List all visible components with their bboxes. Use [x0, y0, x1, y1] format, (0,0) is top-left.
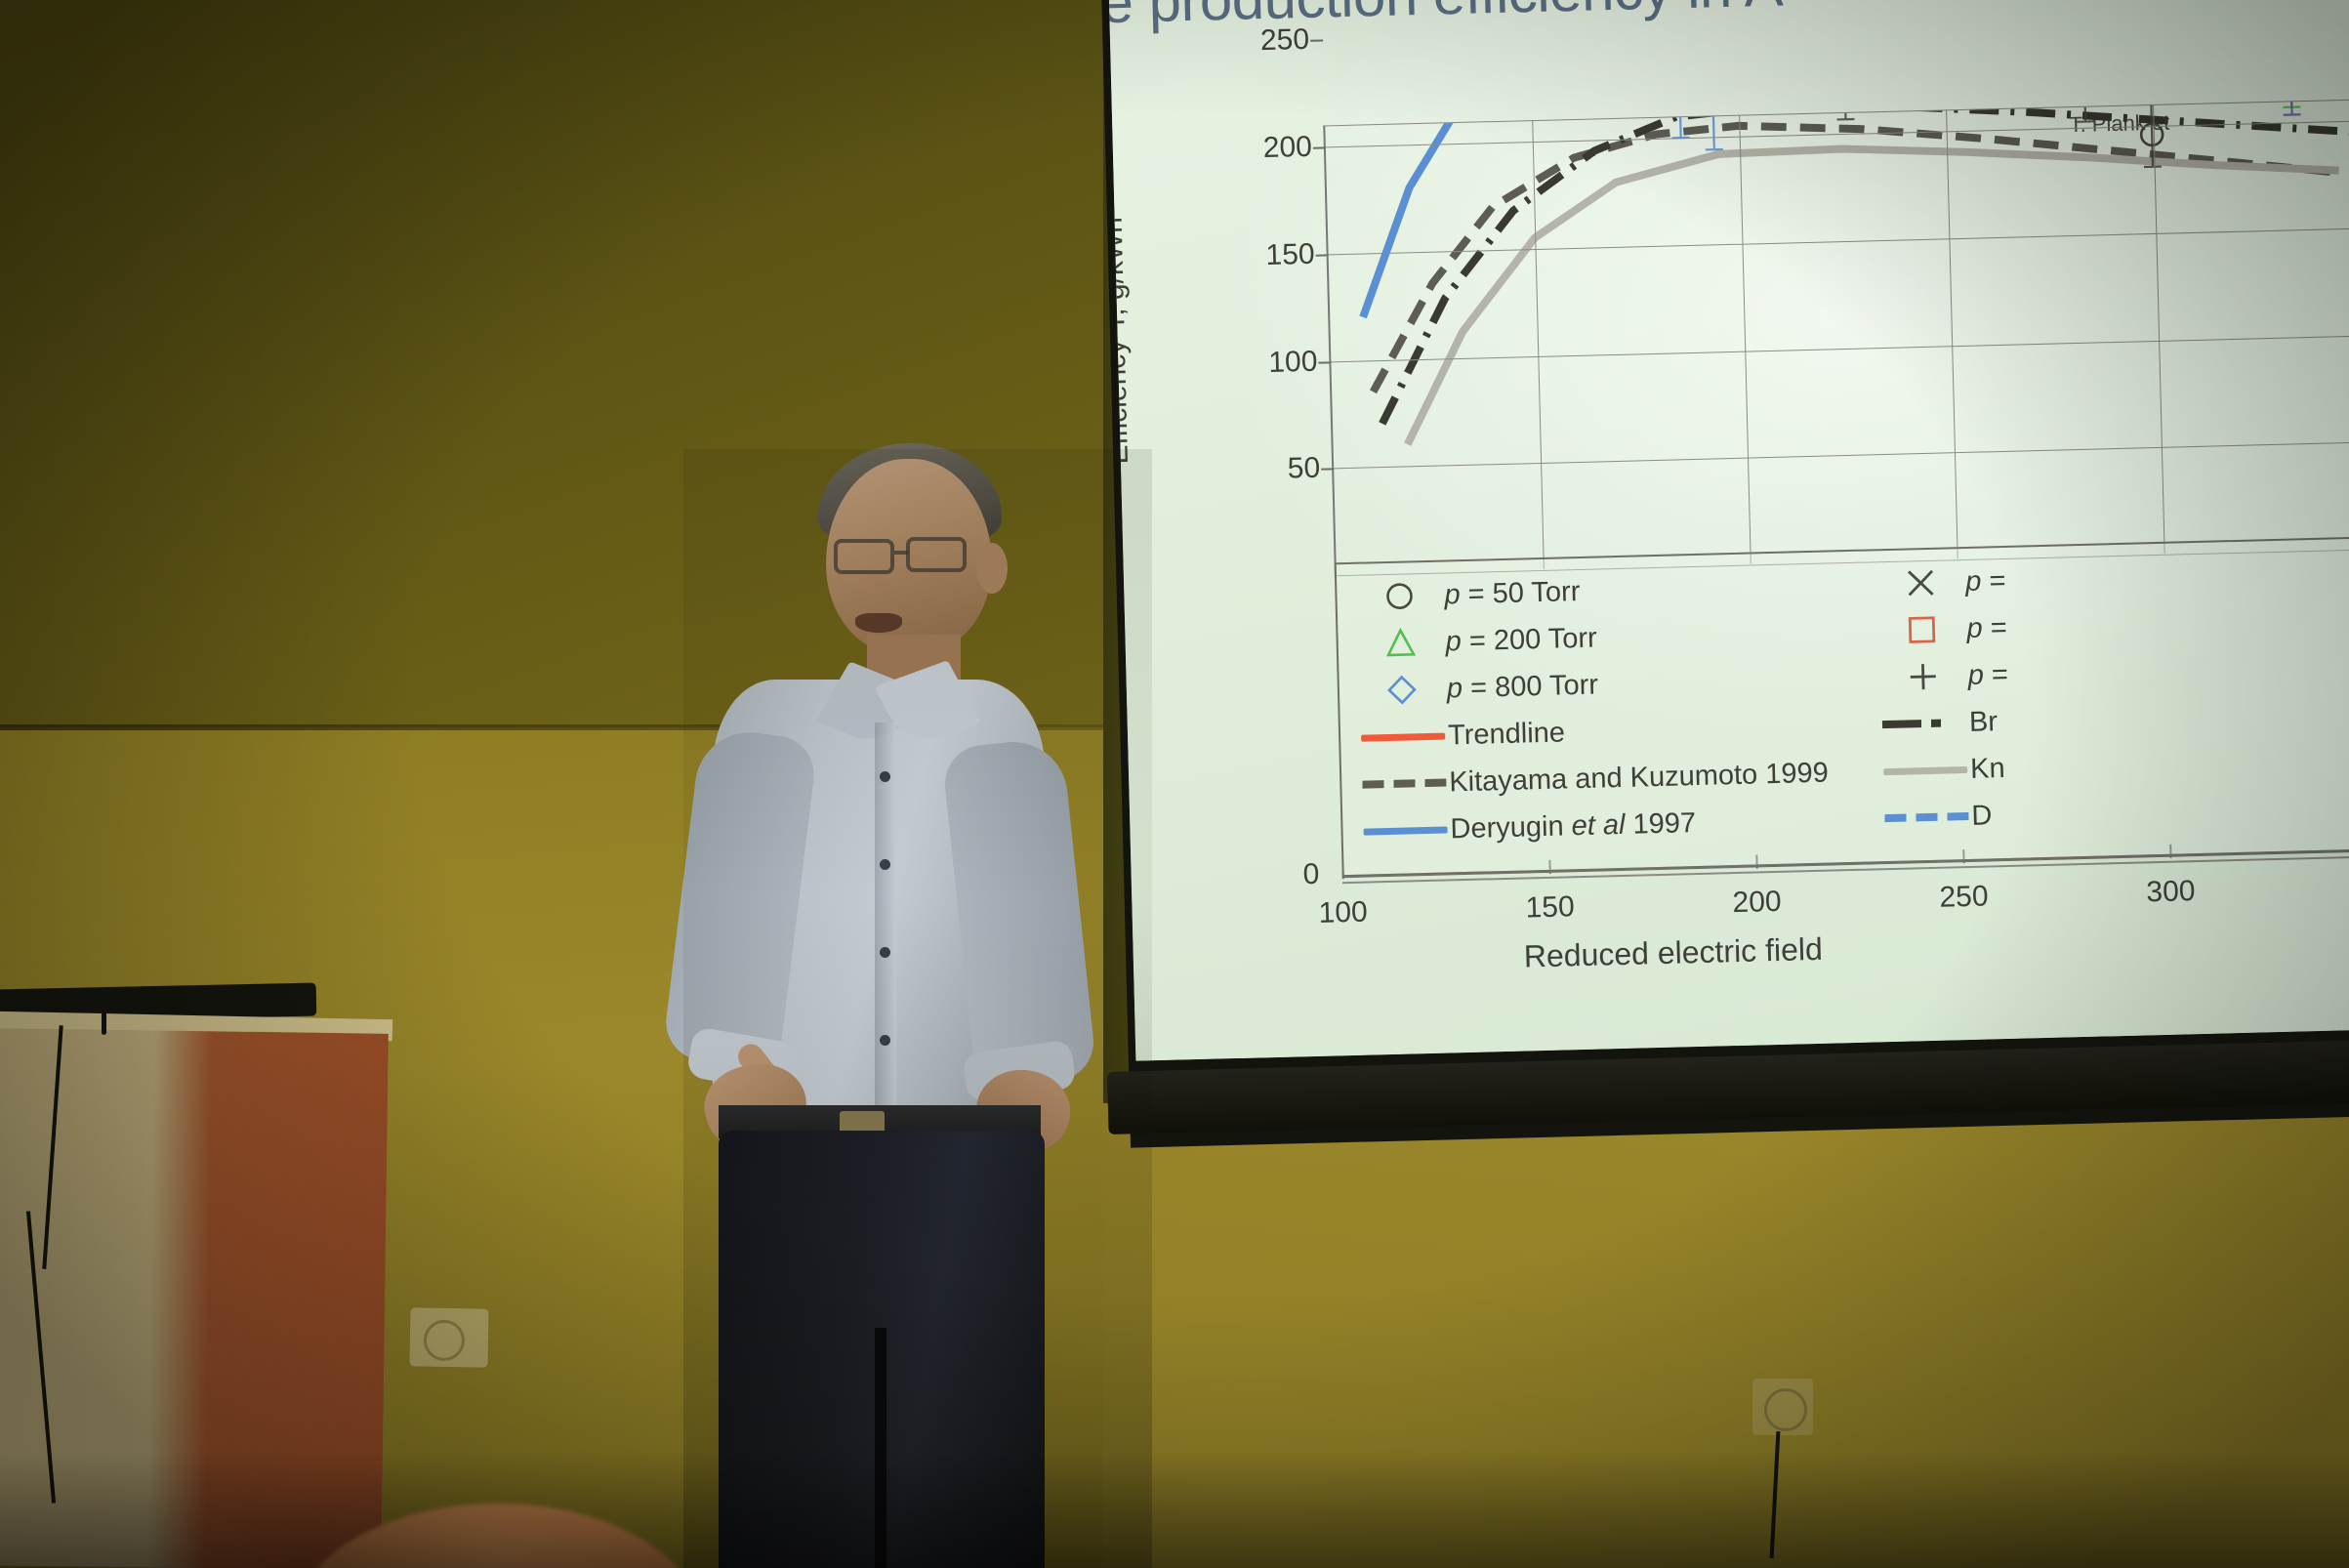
- legend-label: p = 50 Torr: [1444, 575, 1581, 611]
- trouser-leg-split: [875, 1328, 886, 1568]
- legend-label: D: [1971, 800, 1993, 833]
- legend-item: p =: [1875, 557, 2006, 607]
- legend-item: p =: [1877, 651, 2008, 701]
- x-tick-label: 200: [1732, 886, 1782, 920]
- shirt-button: [880, 1035, 890, 1046]
- gridline-horizontal: [1326, 121, 2349, 148]
- legend-marker: [1355, 625, 1446, 660]
- plus-icon: [1906, 660, 1940, 694]
- y-tick-zero: 0: [1302, 858, 1320, 891]
- legend-label: p =: [1965, 564, 2006, 598]
- wall-socket-left: [409, 1307, 488, 1367]
- legend-item: Br: [1878, 698, 2009, 748]
- lecture-room-scene: Ozone production efficiency in A T. Plan…: [0, 0, 2349, 1568]
- gridline-horizontal: [1331, 335, 2349, 362]
- legend-label: Br: [1969, 706, 1999, 739]
- y-tick-label: 200: [1262, 131, 1312, 165]
- legend-label: p = 800 Torr: [1447, 669, 1599, 705]
- legend-column-left: p = 50 Torrp = 200 Torrp = 800 TorrTrend…: [1354, 562, 1831, 855]
- legend-item: D: [1881, 792, 2012, 842]
- mouth: [855, 613, 902, 633]
- projection-screen: Ozone production efficiency in A T. Plan…: [1101, 0, 2349, 1197]
- presenter: [683, 449, 1152, 1568]
- y-tickmark: [1318, 361, 1331, 363]
- gridline-horizontal: [1334, 442, 2349, 470]
- legend-marker: [1881, 812, 1971, 822]
- x-tick-label: 150: [1525, 890, 1575, 925]
- legend-item: Kn: [1880, 745, 2011, 795]
- ear: [976, 543, 1008, 594]
- line-solid-icon: [1883, 765, 1967, 774]
- y-tickmark: [1310, 40, 1323, 42]
- y-tick-label: 150: [1265, 238, 1315, 272]
- x-tick-label: 250: [1939, 880, 1989, 914]
- line-dashdot-icon: [1882, 719, 1966, 728]
- slide: Ozone production efficiency in A T. Plan…: [1108, 0, 2349, 1061]
- x-tick-label: 100: [1318, 896, 1368, 930]
- legend-marker: [1875, 565, 1966, 600]
- legend-item: p =: [1876, 604, 2007, 654]
- legend-label: p = 200 Torr: [1445, 622, 1597, 658]
- gridline-horizontal: [1329, 227, 2349, 255]
- gridline-vertical: [2153, 105, 2165, 554]
- glasses-right-lens: [906, 537, 967, 572]
- glasses-bridge: [894, 551, 908, 555]
- legend-marker: [1877, 659, 1968, 694]
- y-tick-label: 50: [1287, 452, 1320, 486]
- glasses-left-lens: [834, 539, 894, 574]
- gridline-vertical: [1739, 116, 1751, 564]
- legend-marker: [1357, 672, 1448, 707]
- legend-marker: [1354, 578, 1445, 613]
- y-tickmark: [1313, 147, 1326, 149]
- legend-label: Kitayama and Kuzumoto 1999: [1449, 757, 1829, 799]
- wall-socket-right: [1752, 1379, 1813, 1435]
- x-tick-label: 300: [2146, 875, 2196, 909]
- legend-marker: [1876, 612, 1967, 647]
- y-tick-label: 250: [1260, 23, 1310, 58]
- lectern-body: [0, 1028, 389, 1568]
- line-dashed-icon: [1884, 812, 1968, 822]
- chart: Efficiency Y, g/kWh 50100150200250300350…: [1112, 78, 2349, 1047]
- data-layer: [1325, 101, 2349, 575]
- cross-x-icon: [1904, 566, 1938, 600]
- screen-surface: Ozone production efficiency in A T. Plan…: [1108, 0, 2349, 1061]
- gridline-vertical: [1946, 110, 1958, 558]
- diamond-icon: [1385, 673, 1420, 707]
- legend-marker: [1879, 719, 1969, 728]
- y-tickmark: [1316, 254, 1329, 256]
- cable-clip: [102, 1006, 106, 1035]
- legend-marker: [1358, 732, 1448, 741]
- y-tick-label: 100: [1268, 345, 1318, 379]
- shirt-button: [880, 947, 890, 958]
- plot-area: 50100150200250300350: [1323, 100, 2349, 575]
- legend-marker: [1880, 765, 1970, 774]
- shirt-button: [880, 771, 890, 782]
- circle-icon: [1382, 579, 1417, 613]
- shirt-button: [880, 859, 890, 870]
- legend-label: Deryugin et al 1997: [1450, 807, 1696, 846]
- legend-marker: [1359, 778, 1449, 788]
- gridline-vertical: [1532, 121, 1545, 569]
- line-solid-icon: [1361, 732, 1445, 741]
- legend-label: p =: [1967, 658, 2008, 691]
- legend-marker: [1361, 826, 1451, 835]
- triangle-icon: [1383, 626, 1418, 660]
- legend-column-right: p =p =p =BrKnD: [1875, 557, 2012, 842]
- line-solid-icon: [1364, 826, 1448, 835]
- chart-legend: p = 50 Torrp = 200 Torrp = 800 TorrTrend…: [1335, 537, 2349, 878]
- x-axis-label: Reduced electric field: [1523, 931, 1823, 975]
- line-dashed-icon: [1362, 779, 1446, 789]
- legend-label: p =: [1966, 611, 2007, 644]
- square-icon: [1905, 613, 1939, 647]
- legend-label: Trendline: [1448, 717, 1566, 752]
- legend-label: Kn: [1970, 753, 2005, 786]
- y-tickmark: [1321, 469, 1334, 471]
